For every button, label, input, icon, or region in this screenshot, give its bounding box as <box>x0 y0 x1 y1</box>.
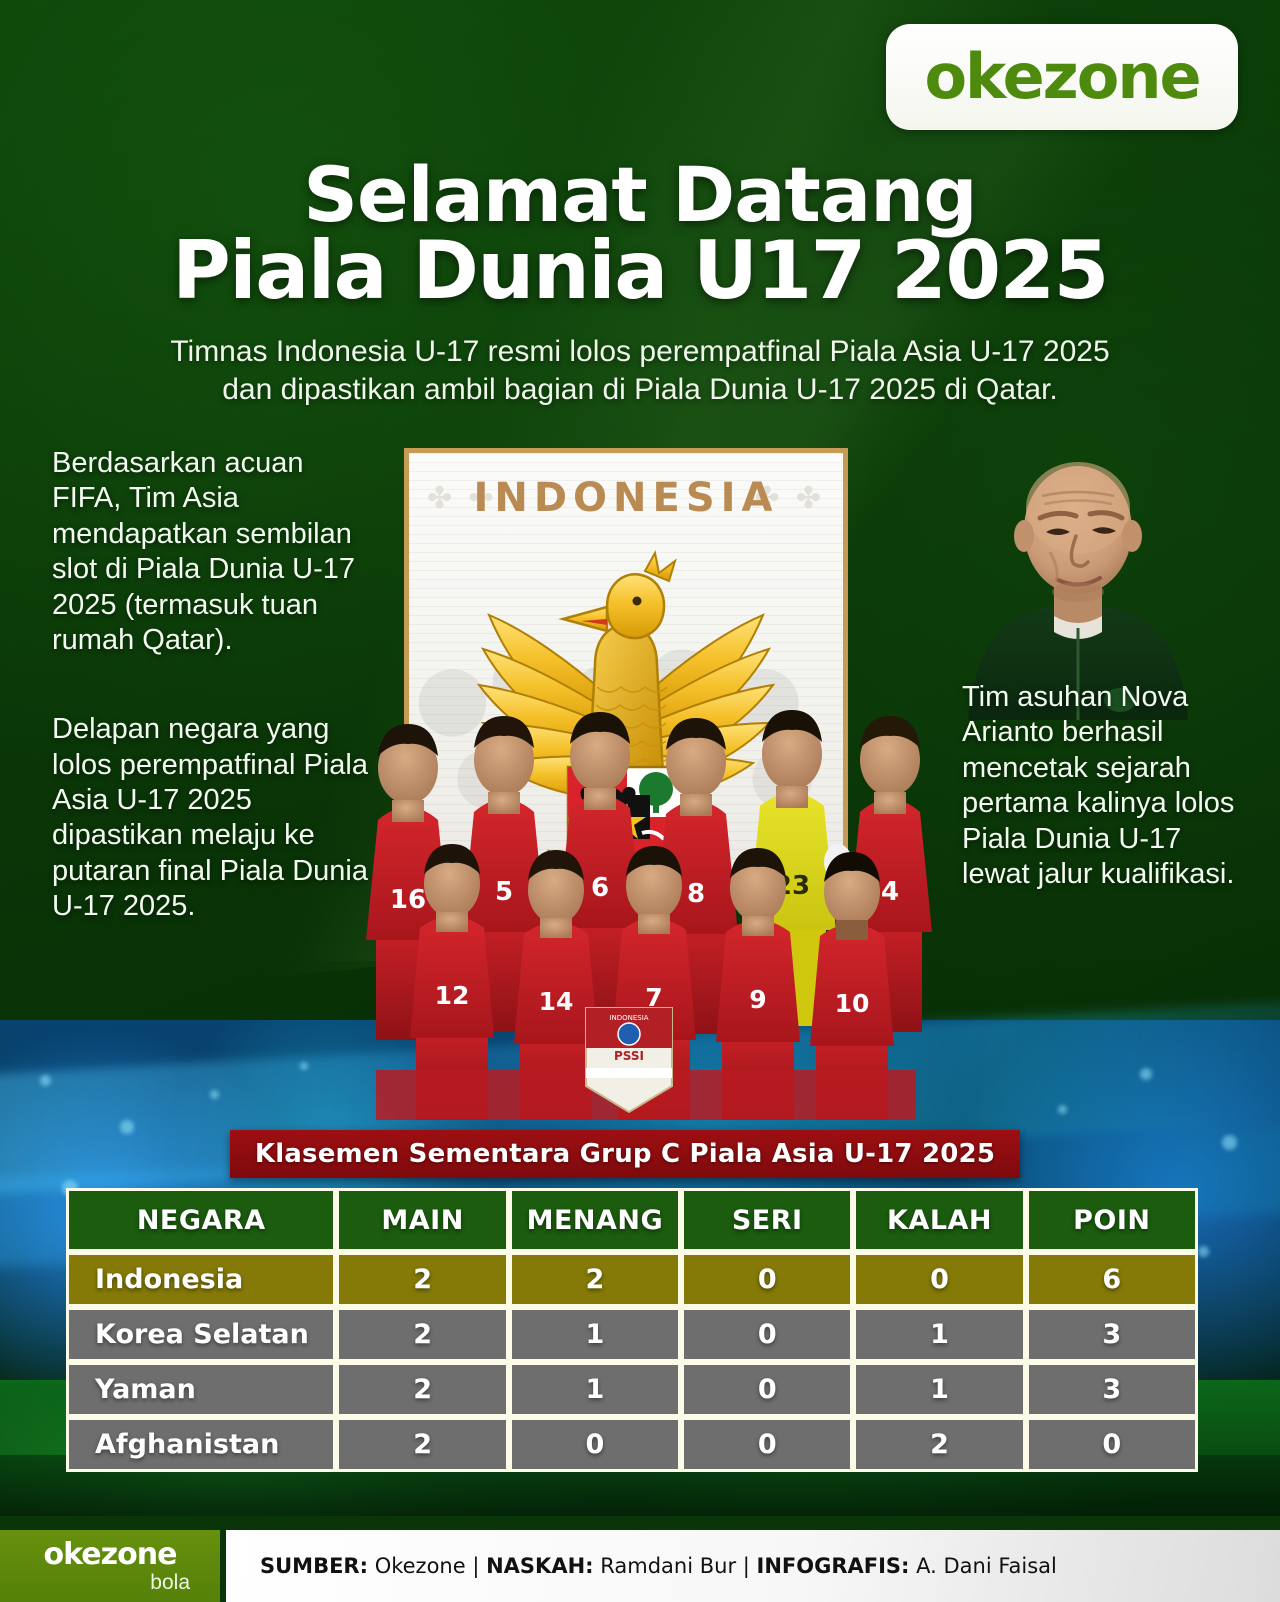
footer-logo-subtext: bola <box>150 1572 190 1593</box>
light-dot <box>1140 1068 1152 1080</box>
plaque-title: INDONESIA <box>409 475 843 521</box>
cell-seri: 0 <box>681 1417 853 1472</box>
column-header-poin: POIN <box>1026 1188 1198 1252</box>
column-header-kalah: KALAH <box>853 1188 1025 1252</box>
standings-table: NEGARA MAIN MENANG SERI KALAH POIN Indon… <box>66 1188 1198 1472</box>
cell-kalah: 1 <box>853 1307 1025 1362</box>
sumber-label: SUMBER: <box>260 1554 368 1578</box>
svg-text:4: 4 <box>881 877 899 907</box>
light-dot <box>1198 1246 1209 1257</box>
light-dot <box>120 1120 134 1134</box>
credit-separator: | <box>472 1554 479 1578</box>
cell-kalah: 0 <box>853 1252 1025 1307</box>
credit-separator: | <box>743 1554 750 1578</box>
standings-banner-text: Klasemen Sementara Grup C Piala Asia U-1… <box>255 1139 995 1169</box>
title-block: Selamat Datang Piala Dunia U17 2025 Timn… <box>0 158 1280 410</box>
left-text-column: Berdasarkan acuan FIFA, Tim Asia mendapa… <box>52 446 372 925</box>
cell-poin: 3 <box>1026 1307 1198 1362</box>
sumber-value: Okezone <box>375 1554 466 1578</box>
infografis-value: A. Dani Faisal <box>916 1554 1057 1578</box>
cell-negara: Indonesia <box>66 1252 336 1307</box>
light-dot <box>1058 1105 1067 1114</box>
cell-menang: 1 <box>509 1362 681 1417</box>
svg-text:8: 8 <box>687 879 705 909</box>
okezone-logo[interactable]: okezone <box>886 24 1238 130</box>
cell-seri: 0 <box>681 1252 853 1307</box>
table-header-row: NEGARA MAIN MENANG SERI KALAH POIN <box>66 1188 1198 1252</box>
infographic-page: okezone Selamat Datang Piala Dunia U17 2… <box>0 0 1280 1602</box>
table-row: Yaman 2 1 0 1 3 <box>66 1362 1198 1417</box>
cell-negara: Korea Selatan <box>66 1307 336 1362</box>
svg-text:10: 10 <box>835 989 870 1018</box>
svg-text:16: 16 <box>390 885 426 915</box>
svg-text:9: 9 <box>749 985 766 1014</box>
light-dot <box>210 1090 219 1099</box>
table-row: Korea Selatan 2 1 0 1 3 <box>66 1307 1198 1362</box>
okezone-bola-logo[interactable]: okezone bola <box>0 1530 226 1602</box>
subtitle-line-1: Timnas Indonesia U-17 resmi lolos peremp… <box>0 333 1280 371</box>
svg-text:5: 5 <box>495 877 513 907</box>
cell-main: 2 <box>336 1252 508 1307</box>
cell-kalah: 2 <box>853 1417 1025 1472</box>
page-title: Selamat Datang Piala Dunia U17 2025 <box>0 158 1280 311</box>
footer: okezone bola SUMBER: Okezone | NASKAH: R… <box>0 1530 1280 1602</box>
cell-main: 2 <box>336 1362 508 1417</box>
svg-text:14: 14 <box>539 987 574 1016</box>
column-header-negara: NEGARA <box>66 1188 336 1252</box>
light-dot <box>300 1062 308 1070</box>
cell-kalah: 1 <box>853 1362 1025 1417</box>
page-subtitle: Timnas Indonesia U-17 resmi lolos peremp… <box>0 333 1280 410</box>
svg-text:6: 6 <box>591 873 609 903</box>
subtitle-line-2: dan dipastikan ambil bagian di Piala Dun… <box>0 371 1280 409</box>
footer-divider <box>0 1516 1280 1530</box>
left-paragraph-2: Delapan negara yang lolos perempatfinal … <box>52 712 372 924</box>
cell-poin: 3 <box>1026 1362 1198 1417</box>
team-photo: 16 5 6 <box>336 690 950 1120</box>
infografis-label: INFOGRAFIS: <box>757 1554 910 1578</box>
svg-text:INDONESIA: INDONESIA <box>609 1014 648 1022</box>
naskah-label: NASKAH: <box>486 1554 593 1578</box>
cell-main: 2 <box>336 1417 508 1472</box>
okezone-logo-text: okezone <box>924 46 1199 108</box>
cell-negara: Afghanistan <box>66 1417 336 1472</box>
cell-main: 2 <box>336 1307 508 1362</box>
footer-logo-text: okezone <box>44 1540 177 1570</box>
cell-seri: 0 <box>681 1362 853 1417</box>
svg-text:PSSI: PSSI <box>614 1049 644 1063</box>
title-line-2: Piala Dunia U17 2025 <box>0 232 1280 310</box>
right-paragraph-1: Tim asuhan Nova Arianto berhasil menceta… <box>962 680 1252 892</box>
cell-negara: Yaman <box>66 1362 336 1417</box>
cell-menang: 1 <box>509 1307 681 1362</box>
standings-banner: Klasemen Sementara Grup C Piala Asia U-1… <box>230 1130 1020 1178</box>
column-header-seri: SERI <box>681 1188 853 1252</box>
svg-text:12: 12 <box>435 981 470 1010</box>
column-header-menang: MENANG <box>509 1188 681 1252</box>
left-paragraph-1: Berdasarkan acuan FIFA, Tim Asia mendapa… <box>52 446 372 658</box>
right-text-column: Tim asuhan Nova Arianto berhasil menceta… <box>962 680 1252 892</box>
table-row: Afghanistan 2 0 0 2 0 <box>66 1417 1198 1472</box>
table-row: Indonesia 2 2 0 0 6 <box>66 1252 1198 1307</box>
naskah-value: Ramdani Bur <box>600 1554 736 1578</box>
cell-poin: 0 <box>1026 1417 1198 1472</box>
cell-menang: 0 <box>509 1417 681 1472</box>
light-dot <box>1222 1135 1237 1150</box>
cell-poin: 6 <box>1026 1252 1198 1307</box>
light-dot <box>40 1075 51 1086</box>
footer-credits: SUMBER: Okezone | NASKAH: Ramdani Bur | … <box>226 1530 1280 1602</box>
cell-seri: 0 <box>681 1307 853 1362</box>
column-header-main: MAIN <box>336 1188 508 1252</box>
cell-menang: 2 <box>509 1252 681 1307</box>
